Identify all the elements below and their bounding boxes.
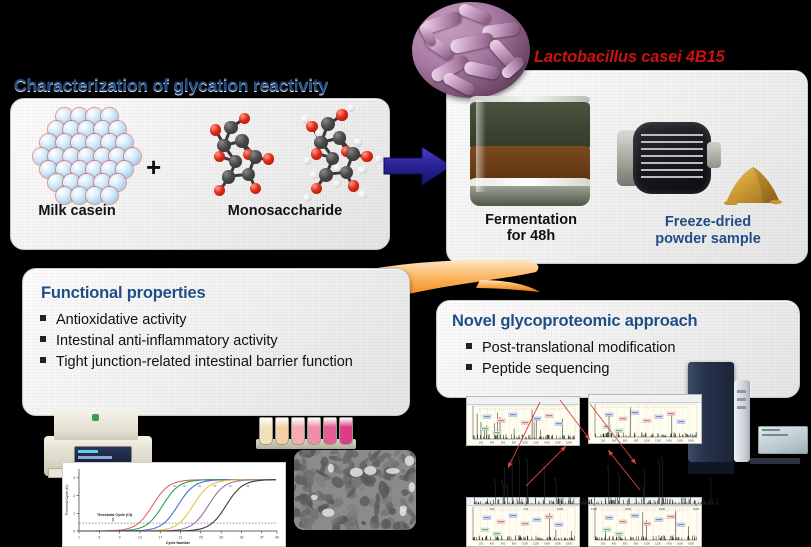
carbon-atom bbox=[235, 134, 248, 147]
svg-text:Cycle Number: Cycle Number bbox=[166, 541, 191, 545]
carbon-atom bbox=[321, 117, 335, 131]
svg-text:13: 13 bbox=[138, 536, 142, 540]
svg-text:600: 600 bbox=[501, 542, 506, 546]
svg-text:1600: 1600 bbox=[555, 542, 561, 546]
oxygen-atom bbox=[214, 151, 225, 162]
monosaccharide-label: Monosaccharide bbox=[200, 203, 370, 220]
svg-text:Ct: Ct bbox=[247, 484, 250, 488]
hydrogen-atom bbox=[347, 104, 355, 112]
monosaccharide-molecule-1-icon bbox=[186, 112, 286, 204]
square-bullet-icon bbox=[40, 331, 56, 351]
oxygen-atom bbox=[348, 180, 360, 192]
svg-text:Ct: Ct bbox=[214, 484, 217, 488]
pcr-tube-rack-icon bbox=[256, 415, 356, 451]
svg-text:200: 200 bbox=[479, 542, 484, 546]
svg-text:400: 400 bbox=[490, 542, 495, 546]
carbon-atom bbox=[319, 168, 333, 182]
oxygen-atom bbox=[214, 185, 225, 196]
svg-text:1: 1 bbox=[78, 536, 80, 540]
svg-text:Ct: Ct bbox=[183, 484, 186, 488]
glycoproteomic-title: Novel glycoproteomic approach bbox=[452, 312, 697, 331]
functional-bullet-item-label: Intestinal anti-inflammatory activity bbox=[56, 331, 392, 351]
svg-text:1: 1 bbox=[73, 512, 75, 516]
hydrogen-atom bbox=[358, 166, 366, 174]
svg-text:800: 800 bbox=[512, 542, 517, 546]
svg-text:5: 5 bbox=[98, 536, 100, 540]
square-bullet-icon bbox=[40, 310, 56, 330]
hydrogen-atom bbox=[358, 191, 366, 199]
pcr-tube bbox=[259, 417, 273, 445]
pcr-amplification-chart: 15913172125293337400123Threshold Cycle (… bbox=[62, 462, 286, 547]
square-bullet-icon bbox=[466, 359, 482, 379]
milk-casein-label: Milk casein bbox=[12, 203, 142, 220]
svg-text:1200: 1200 bbox=[533, 542, 539, 546]
pcr-tube bbox=[323, 417, 337, 445]
svg-text:33: 33 bbox=[240, 536, 244, 540]
carbon-atom bbox=[229, 155, 242, 168]
svg-text:Ct: Ct bbox=[229, 484, 232, 488]
oxygen-atom bbox=[311, 148, 323, 160]
functional-properties-list: Antioxidative activityIntestinal anti-in… bbox=[40, 310, 392, 373]
plus-symbol: + bbox=[146, 152, 161, 183]
pcr-tube bbox=[339, 417, 353, 445]
svg-text:1400: 1400 bbox=[666, 542, 672, 546]
freezedried-label-line2: powder sample bbox=[628, 231, 788, 248]
oxygen-atom bbox=[210, 124, 221, 135]
svg-text:37: 37 bbox=[260, 536, 264, 540]
svg-text:1800: 1800 bbox=[688, 542, 694, 546]
carbon-atom bbox=[333, 131, 347, 145]
svg-text:1000: 1000 bbox=[522, 542, 528, 546]
svg-text:3: 3 bbox=[73, 476, 75, 480]
svg-text:1600: 1600 bbox=[677, 542, 683, 546]
freeze-dryer-icon bbox=[617, 118, 722, 200]
svg-text:800: 800 bbox=[634, 542, 639, 546]
carbon-atom bbox=[222, 170, 235, 183]
functional-bullet-item: Tight junction-related intestinal barrie… bbox=[40, 352, 392, 372]
svg-text:600: 600 bbox=[623, 542, 628, 546]
svg-text:1800: 1800 bbox=[566, 542, 572, 546]
graphical-abstract: Characterization of glycation reactivity… bbox=[0, 0, 811, 547]
pcr-tube bbox=[307, 417, 321, 445]
svg-text:Threshold Cycle (Ct): Threshold Cycle (Ct) bbox=[65, 484, 69, 515]
svg-text:9: 9 bbox=[119, 536, 121, 540]
powder-pile-icon bbox=[722, 163, 784, 205]
oxygen-atom bbox=[239, 113, 250, 124]
functional-bullet-item-label: Antioxidative activity bbox=[56, 310, 392, 330]
svg-text:29: 29 bbox=[219, 536, 223, 540]
characterization-title: Characterization of glycation reactivity bbox=[14, 75, 328, 96]
carbon-atom bbox=[249, 150, 262, 163]
carbon-atom bbox=[224, 121, 237, 134]
carbon-atom bbox=[340, 166, 354, 180]
hydrogen-atom bbox=[333, 180, 341, 188]
bacteria-micrograph-icon bbox=[412, 2, 530, 98]
functional-bullet-item: Antioxidative activity bbox=[40, 310, 392, 330]
carbon-atom bbox=[217, 139, 230, 152]
svg-text:0: 0 bbox=[73, 529, 75, 533]
glycoproteomic-bullet-item: Post-translational modification bbox=[466, 338, 786, 358]
glycoproteomic-bullet-item-label: Post-translational modification bbox=[482, 338, 786, 358]
hydrogen-atom bbox=[303, 157, 311, 165]
svg-text:21: 21 bbox=[179, 536, 183, 540]
hydrogen-atom bbox=[310, 171, 318, 179]
svg-text:25: 25 bbox=[199, 536, 203, 540]
freezedried-label-line1: Freeze-dried bbox=[628, 214, 788, 231]
fermentation-label-line2: for 48h bbox=[470, 228, 592, 245]
square-bullet-icon bbox=[40, 352, 56, 372]
oxygen-atom bbox=[250, 183, 261, 194]
spectrum-connector-lines bbox=[440, 390, 740, 510]
carbon-atom bbox=[346, 147, 360, 161]
svg-text:Ct: Ct bbox=[173, 484, 176, 488]
hydrogen-atom bbox=[354, 138, 362, 146]
oxygen-atom bbox=[311, 183, 323, 195]
functional-bullet-item-label: Tight junction-related intestinal barrie… bbox=[56, 352, 392, 372]
oxygen-atom bbox=[263, 153, 274, 164]
svg-text:40: 40 bbox=[275, 536, 279, 540]
svg-text:2: 2 bbox=[73, 494, 75, 498]
svg-text:200: 200 bbox=[601, 542, 606, 546]
pcr-tube bbox=[275, 417, 289, 445]
milk-casein-icon bbox=[38, 108, 134, 200]
square-bullet-icon bbox=[466, 338, 482, 358]
svg-text:Ct: Ct bbox=[198, 484, 201, 488]
organism-name: Lactobacillus casei 4B15 bbox=[534, 48, 725, 67]
svg-text:400: 400 bbox=[612, 542, 617, 546]
cell-micrograph-icon bbox=[294, 450, 416, 530]
blue-arrow-right-icon bbox=[382, 143, 454, 189]
oxygen-atom bbox=[306, 121, 318, 133]
fermentation-jar-icon bbox=[470, 96, 590, 206]
fermentation-label-line1: Fermentation bbox=[470, 212, 592, 229]
svg-text:1400: 1400 bbox=[544, 542, 550, 546]
pcr-tube bbox=[291, 417, 305, 445]
svg-text:1200: 1200 bbox=[655, 542, 661, 546]
functional-bullet-item: Intestinal anti-inflammatory activity bbox=[40, 331, 392, 351]
hydrogen-atom bbox=[303, 194, 311, 202]
svg-text:1000: 1000 bbox=[644, 542, 650, 546]
monosaccharide-molecule-2-icon bbox=[282, 108, 382, 204]
functional-properties-title: Functional properties bbox=[41, 284, 205, 303]
oxygen-atom bbox=[361, 151, 373, 163]
svg-text:Threshold Cycle (Ct): Threshold Cycle (Ct) bbox=[97, 513, 133, 517]
oxygen-atom bbox=[336, 109, 348, 121]
svg-text:17: 17 bbox=[158, 536, 162, 540]
